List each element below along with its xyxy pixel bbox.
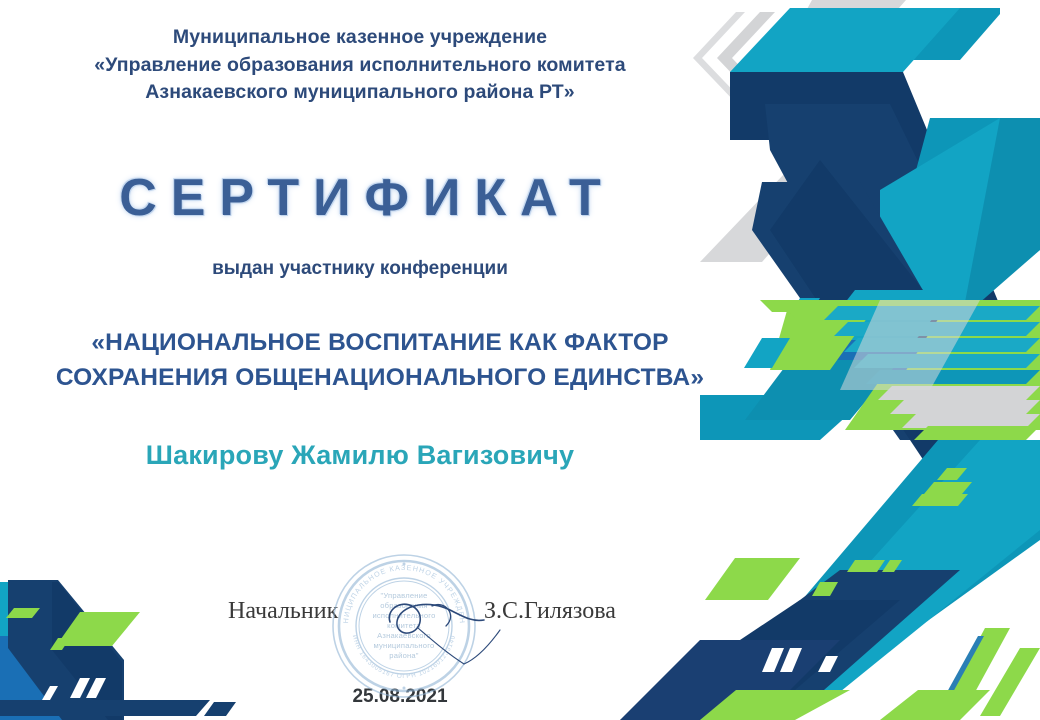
- navy-chevron-core: [765, 104, 1005, 400]
- teal-top-slab: [730, 8, 960, 72]
- teal-panel-mid: [745, 360, 900, 420]
- conference-title: «НАЦИОНАЛЬНОЕ ВОСПИТАНИЕ КАК ФАКТОР СОХР…: [0, 326, 760, 396]
- navy-diagonal-band: [752, 182, 1010, 440]
- teal-panel-right-dark: [962, 118, 1040, 318]
- green-accent-chips: [812, 468, 972, 596]
- blue-parallelogram-mid: [790, 340, 960, 400]
- teal-arrow-right: [900, 118, 1040, 230]
- issuing-organization: Муниципальное казенное учреждение «Управ…: [0, 24, 720, 107]
- green-wedge-upper: [900, 300, 1040, 380]
- teal-diagonal-lower: [700, 440, 1040, 720]
- teal-band-lower-mid: [700, 395, 870, 440]
- teal-panel-right: [880, 118, 1040, 320]
- conference-line-2: СОХРАНЕНИЯ ОБЩЕНАЦИОНАЛЬНОГО ЕДИНСТВА»: [0, 361, 760, 396]
- teal-top-bar: [790, 8, 1000, 60]
- green-band-upper: [845, 380, 1040, 430]
- teal-slash-lines: [787, 298, 843, 334]
- teal-diagonal-lower-light: [745, 440, 1040, 700]
- recipient-name: Шакирову Жамилю Вагизовичу: [0, 440, 720, 471]
- teal-parallelogram-mid: [800, 290, 955, 360]
- issued-to-label: выдан участнику конференции: [0, 258, 720, 280]
- certificate-title: СЕРТИФИКАТ: [0, 168, 720, 228]
- green-triangle-left: [770, 300, 880, 370]
- org-line-1: Муниципальное казенное учреждение: [0, 24, 720, 52]
- org-line-2: «Управление образования исполнительного …: [0, 52, 720, 80]
- handwritten-signature: [372, 570, 522, 680]
- striped-band-cluster: [760, 300, 1040, 456]
- signatory-role: Начальник: [228, 598, 338, 625]
- white-slash-chips: [762, 648, 838, 672]
- navy-chevron-upper: [730, 72, 1010, 420]
- certificate-page: Муниципальное казенное учреждение «Управ…: [0, 0, 1040, 720]
- conference-line-1: «НАЦИОНАЛЬНОЕ ВОСПИТАНИЕ КАК ФАКТОР: [0, 326, 760, 361]
- org-line-3: Азнакаевского муниципального района РТ»: [0, 79, 720, 107]
- bottom-right-slashes: [880, 628, 1040, 720]
- gray-chevron-shape: [700, 0, 906, 262]
- navy-diagonal-band-2: [770, 160, 1010, 470]
